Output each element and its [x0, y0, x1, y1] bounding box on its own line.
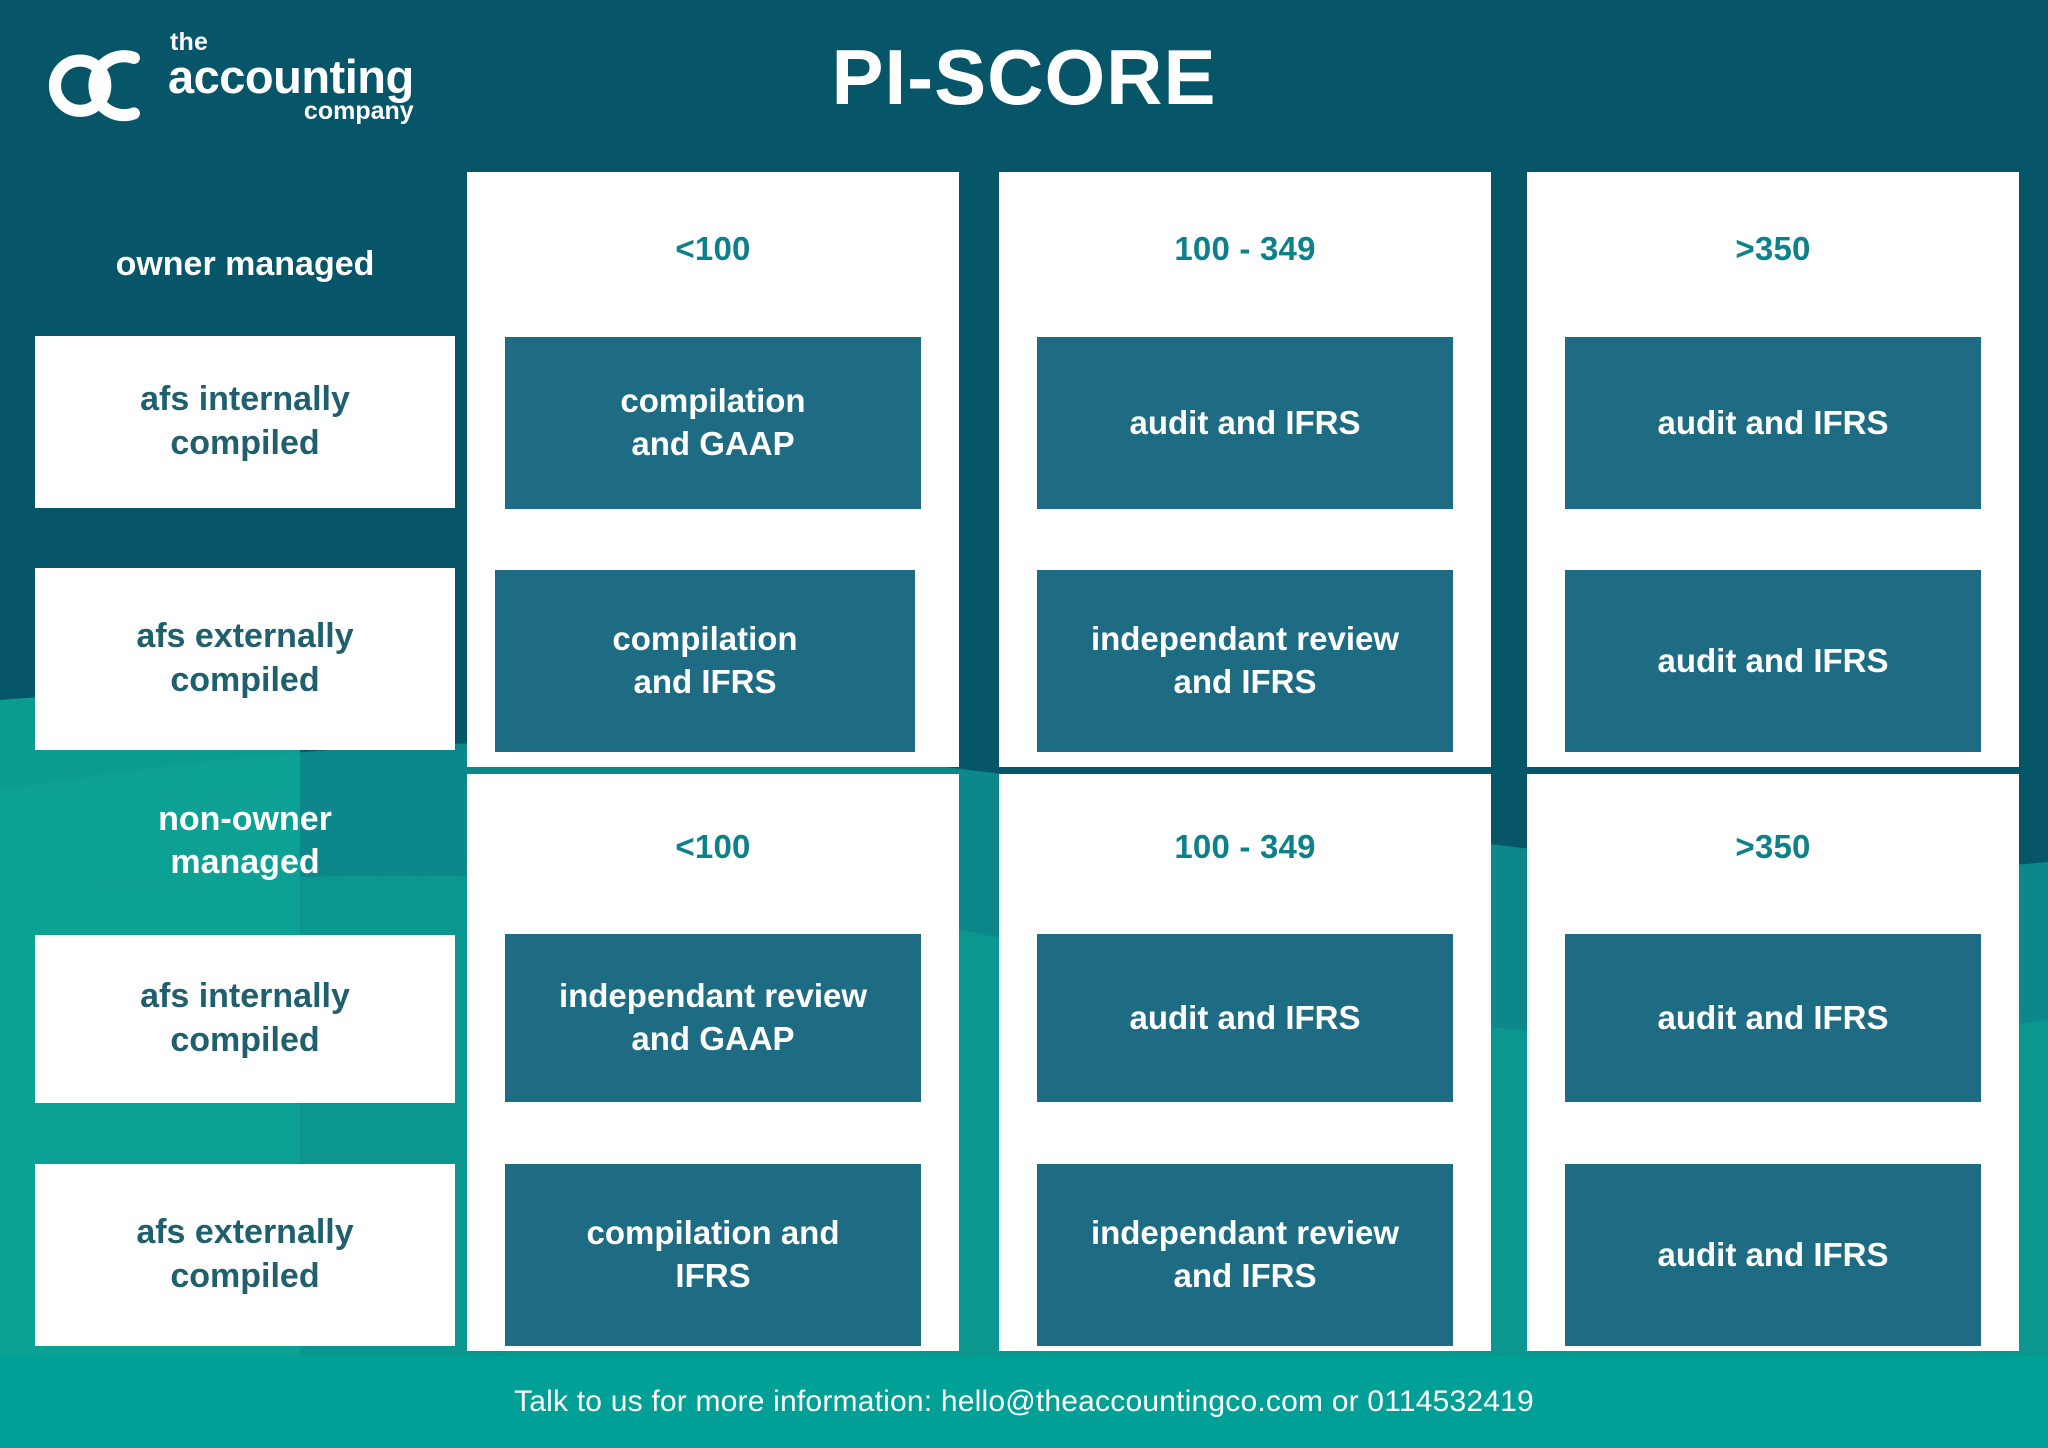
card-nonowner-100-349: 100 - 349 audit and IFRS independant rev… — [999, 774, 1491, 1351]
cell-owner-internal-lt100: compilation and GAAP — [505, 337, 921, 509]
card-nonowner-gt350: >350 audit and IFRS audit and IFRS — [1527, 774, 2019, 1351]
card-owner-gt350: >350 audit and IFRS audit and IFRS — [1527, 172, 2019, 767]
row-label-nonowner-afs-internally: afs internally compiled — [35, 935, 455, 1103]
cell-nonowner-internal-100-349: audit and IFRS — [1037, 934, 1453, 1102]
section-label-owner-managed: owner managed — [35, 243, 455, 286]
cell-nonowner-internal-lt100: independant review and GAAP — [505, 934, 921, 1102]
cell-owner-external-gt350: audit and IFRS — [1565, 570, 1981, 752]
card-owner-100-349: 100 - 349 audit and IFRS independant rev… — [999, 172, 1491, 767]
footer-contact-bar: Talk to us for more information: hello@t… — [0, 1356, 2048, 1448]
cell-nonowner-external-lt100: compilation and IFRS — [505, 1164, 921, 1346]
card-nonowner-lt100: <100 independant review and GAAP compila… — [467, 774, 959, 1351]
card-header-nonowner-gt350: >350 — [1527, 828, 2019, 866]
row-label-owner-afs-externally: afs externally compiled — [35, 568, 455, 750]
footer-contact-text: Talk to us for more information: hello@t… — [514, 1385, 1534, 1419]
card-header-owner-100-349: 100 - 349 — [999, 230, 1491, 268]
card-header-owner-gt350: >350 — [1527, 230, 2019, 268]
cell-owner-internal-100-349: audit and IFRS — [1037, 337, 1453, 509]
card-header-nonowner-100-349: 100 - 349 — [999, 828, 1491, 866]
cell-owner-internal-gt350: audit and IFRS — [1565, 337, 1981, 509]
row-label-nonowner-afs-externally: afs externally compiled — [35, 1164, 455, 1346]
cell-nonowner-external-100-349: independant review and IFRS — [1037, 1164, 1453, 1346]
cell-owner-external-100-349: independant review and IFRS — [1037, 570, 1453, 752]
card-header-owner-lt100: <100 — [467, 230, 959, 268]
cell-owner-external-lt100: compilation and IFRS — [495, 570, 915, 752]
infographic-canvas: the accounting company PI-SCORE owner ma… — [0, 0, 2048, 1448]
row-label-owner-afs-internally: afs internally compiled — [35, 336, 455, 508]
section-label-non-owner-managed: non-owner managed — [35, 798, 455, 883]
page-title: PI-SCORE — [0, 32, 2048, 123]
card-header-nonowner-lt100: <100 — [467, 828, 959, 866]
card-owner-lt100: <100 compilation and GAAP compilation an… — [467, 172, 959, 767]
cell-nonowner-external-gt350: audit and IFRS — [1565, 1164, 1981, 1346]
cell-nonowner-internal-gt350: audit and IFRS — [1565, 934, 1981, 1102]
